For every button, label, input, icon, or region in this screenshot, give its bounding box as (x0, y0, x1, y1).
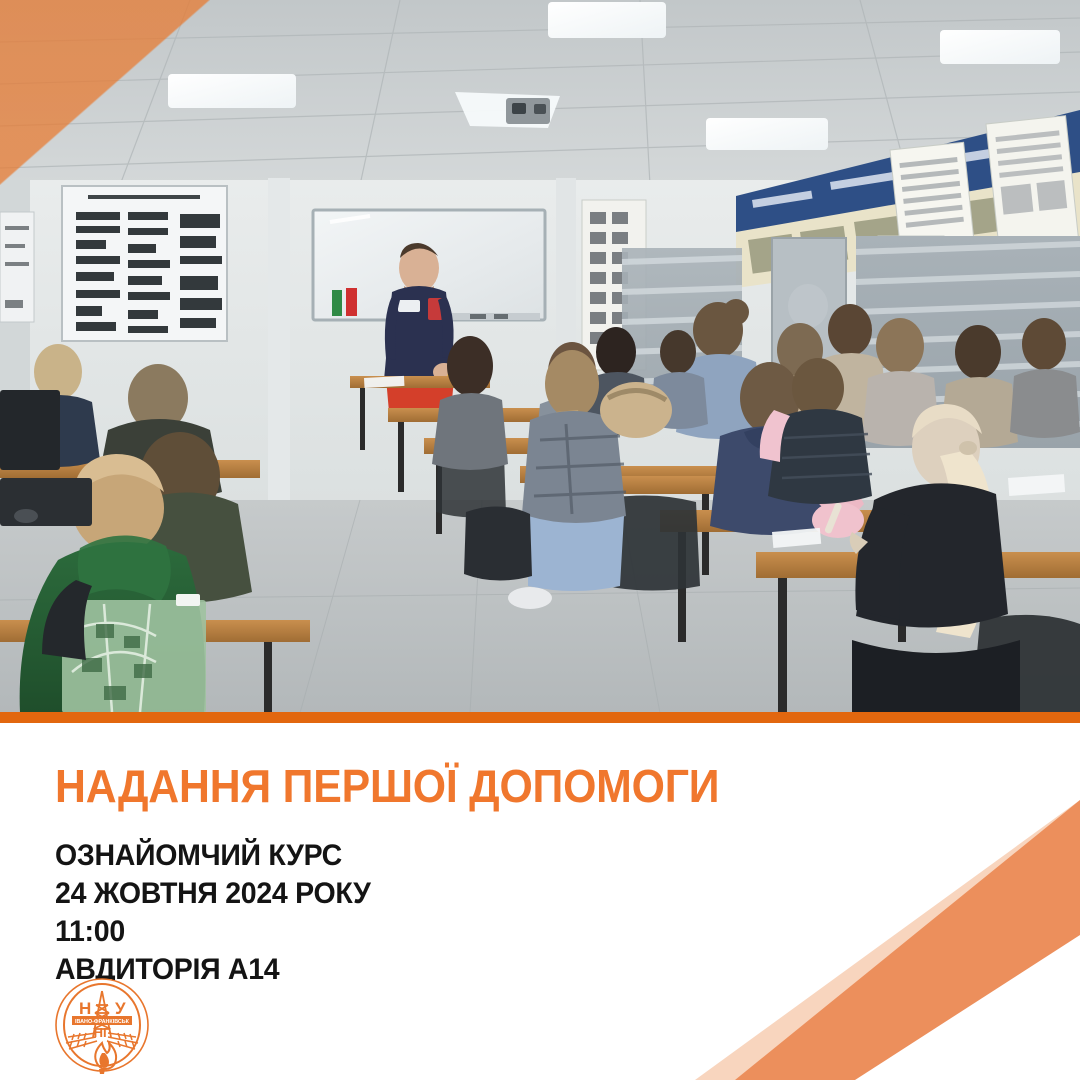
university-logo: Н У ІВАНО-ФРАНКІВСЬК НГ (52, 975, 152, 1075)
page-title: НАДАННЯ ПЕРШОЇ ДОПОМОГИ (55, 763, 762, 809)
detail-date: 24 ЖОВТНЯ 2024 РОКУ (55, 875, 777, 913)
text-content: НАДАННЯ ПЕРШОЇ ДОПОМОГИ ОЗНАЙОМЧИЙ КУРС … (55, 763, 815, 989)
orange-divider (0, 712, 1080, 723)
classroom-photo (0, 0, 1080, 713)
info-panel: НАДАННЯ ПЕРШОЇ ДОПОМОГИ ОЗНАЙОМЧИЙ КУРС … (0, 723, 1080, 1080)
svg-text:Н: Н (79, 999, 91, 1018)
detail-time: 11:00 (55, 913, 777, 951)
event-details: ОЗНАЙОМЧИЙ КУРС 24 ЖОВТНЯ 2024 РОКУ 11:0… (55, 837, 815, 989)
poster-canvas: НАДАННЯ ПЕРШОЇ ДОПОМОГИ ОЗНАЙОМЧИЙ КУРС … (0, 0, 1080, 1080)
ntu-ong-emblem-icon: Н У ІВАНО-ФРАНКІВСЬК НГ (52, 975, 152, 1075)
svg-text:У: У (115, 999, 126, 1018)
detail-room: АВДИТОРІЯ А14 (55, 951, 777, 989)
detail-course: ОЗНАЙОМЧИЙ КУРС (55, 837, 777, 875)
